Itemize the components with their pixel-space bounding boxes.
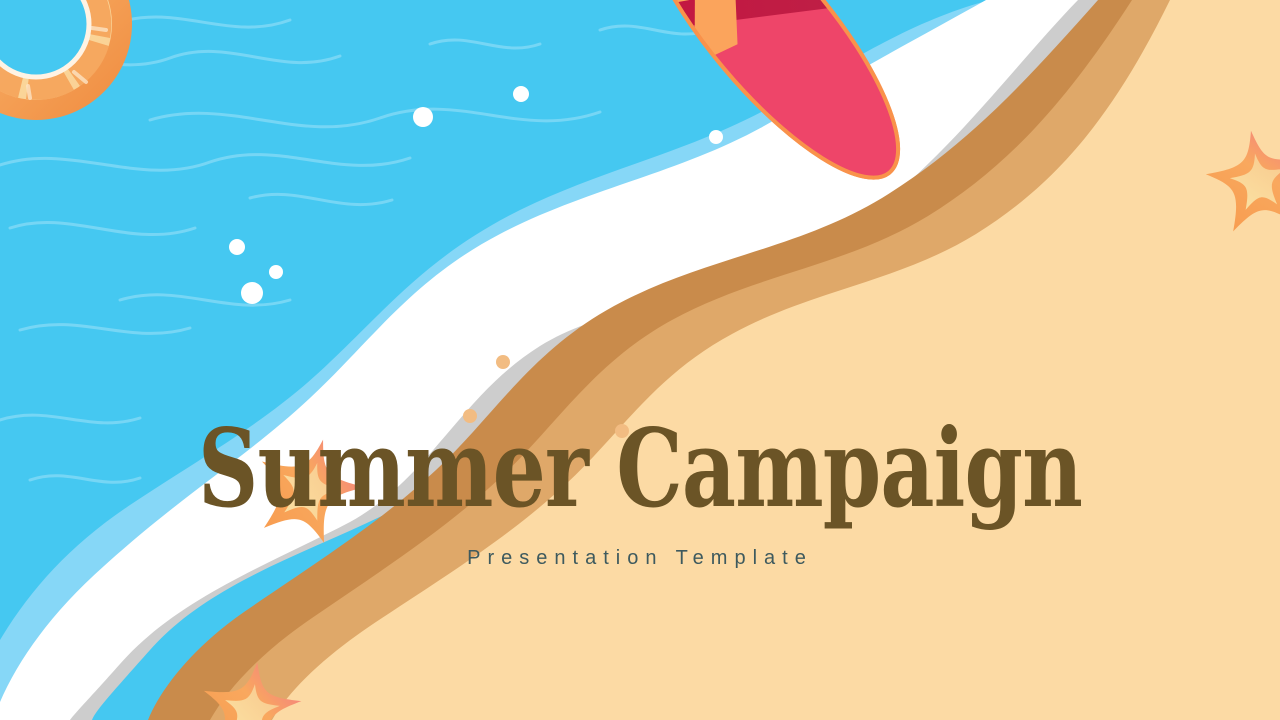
bubble: [241, 282, 263, 304]
bubble: [269, 265, 283, 279]
beach-scene-illustration: [0, 0, 1280, 720]
sand-dot: [496, 355, 510, 369]
sand-dot: [463, 409, 477, 423]
bubble: [513, 86, 529, 102]
summer-campaign-title-slide: Summer Campaign Presentation Template: [0, 0, 1280, 720]
bubble: [413, 107, 433, 127]
bubble: [709, 130, 723, 144]
bubble: [229, 239, 245, 255]
sand-dot: [615, 424, 629, 438]
